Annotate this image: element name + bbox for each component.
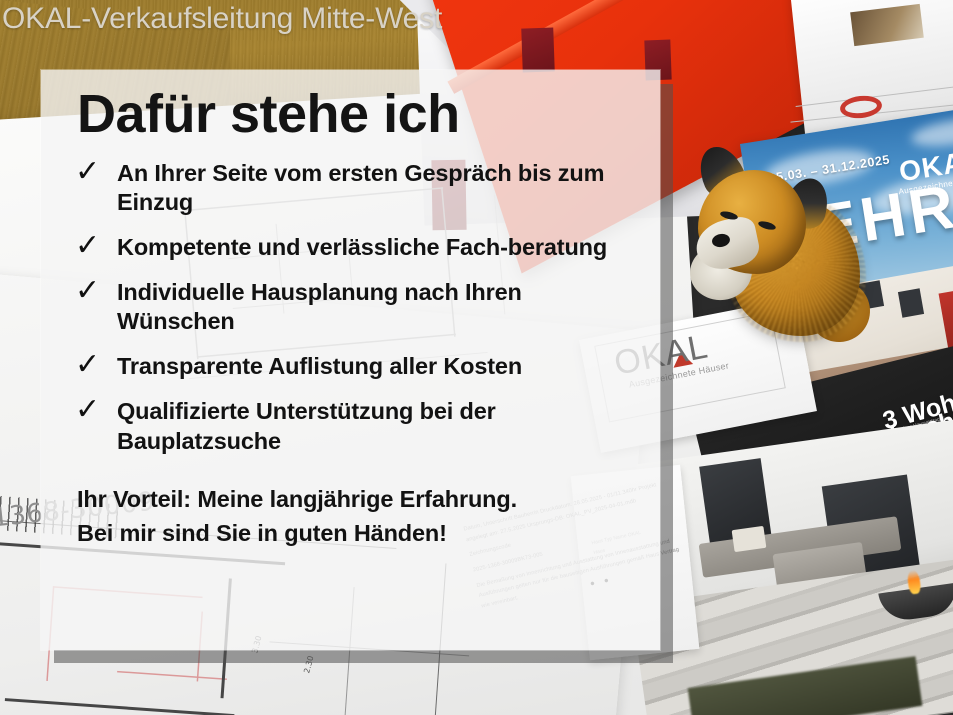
page-title: OKAL-Verkaufsleitung Mitte-West [2, 2, 442, 36]
slide-canvas: MEHR 15.03. – 31.12.2025 OKAL Ausgezeich… [0, 0, 953, 715]
list-item-label: Qualifizierte Unterstützung bei der Baup… [117, 398, 496, 453]
closing-statement: Ihr Vorteil: Meine langjährige Erfahrung… [77, 482, 638, 550]
panel-headline: Dafür stehe ich [77, 86, 638, 143]
closing-line-1: Ihr Vorteil: Meine langjährige Erfahrung… [77, 482, 638, 516]
list-item-label: Individuelle Hausplanung nach Ihren Wüns… [117, 279, 522, 334]
benefits-checklist: ✓ An Ihrer Seite vom ersten Gespräch bis… [69, 159, 638, 456]
check-icon: ✓ [75, 231, 100, 261]
list-item: ✓ Individuelle Hausplanung nach Ihren Wü… [69, 278, 638, 336]
list-item: ✓ An Ihrer Seite vom ersten Gespräch bis… [69, 159, 638, 217]
list-item-label: An Ihrer Seite vom ersten Gespräch bis z… [117, 160, 604, 215]
terrace-pillow [732, 526, 767, 552]
list-item: ✓ Qualifizierte Unterstützung bei der Ba… [69, 397, 638, 455]
fox-figurine [690, 148, 870, 348]
panel-shadow-right [660, 84, 673, 650]
check-icon: ✓ [75, 350, 100, 380]
list-item: ✓ Kompetente und verlässliche Fach-berat… [69, 233, 638, 262]
brochure-house-window [898, 288, 924, 317]
closing-line-2: Bei mir sind Sie in guten Händen! [77, 516, 638, 550]
list-item-label: Kompetente und verlässliche Fach-beratun… [117, 234, 607, 260]
check-icon: ✓ [75, 276, 100, 306]
house-model-window [521, 27, 555, 72]
list-item: ✓ Transparente Auflistung aller Kosten [69, 352, 638, 381]
list-item-label: Transparente Auflistung aller Kosten [117, 353, 522, 379]
check-icon: ✓ [75, 395, 100, 425]
check-icon: ✓ [75, 157, 100, 187]
panel-shadow-bottom [54, 650, 673, 663]
cloud [909, 113, 953, 151]
info-panel: Dafür stehe ich ✓ An Ihrer Seite vom ers… [41, 70, 660, 650]
